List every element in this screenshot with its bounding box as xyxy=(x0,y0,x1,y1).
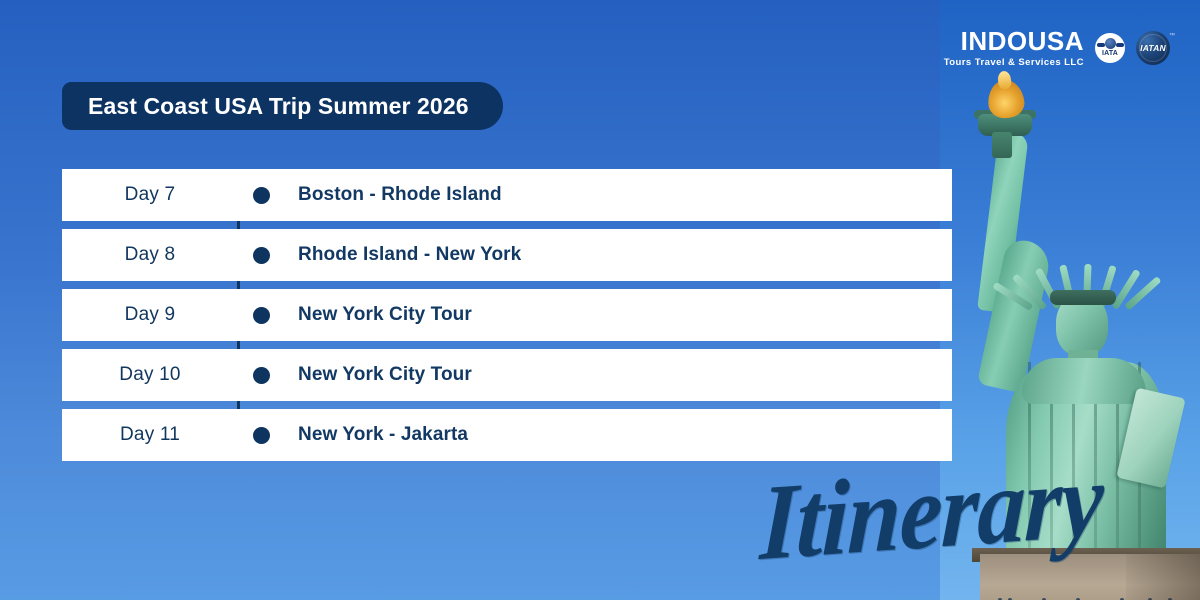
brand-logo-text: INDOUSA Tours Travel & Services LLC xyxy=(944,28,1084,68)
timeline-dot-cell xyxy=(238,187,284,204)
itinerary-script-word: Itinerary xyxy=(758,436,1105,585)
table-row[interactable]: Day 8 Rhode Island - New York xyxy=(62,229,952,281)
iata-badge-icon: IATA xyxy=(1095,33,1125,63)
destination-label: New York - Jakarta xyxy=(284,424,952,446)
brand-tagline: Tours Travel & Services LLC xyxy=(944,58,1084,68)
timeline-dot-icon xyxy=(253,367,270,384)
trademark-symbol: ™ xyxy=(1169,33,1175,39)
statue-headband xyxy=(1050,290,1116,305)
timeline-dot-cell xyxy=(238,427,284,444)
day-label: Day 11 xyxy=(62,424,238,446)
timeline-dot-icon xyxy=(253,247,270,264)
day-label: Day 7 xyxy=(62,184,238,206)
timeline-dot-icon xyxy=(253,427,270,444)
timeline-dot-icon xyxy=(253,187,270,204)
brand-name: INDOUSA xyxy=(944,28,1084,54)
timeline-dot-icon xyxy=(253,307,270,324)
iatan-badge-icon: IATAN ™ xyxy=(1136,31,1170,65)
destination-label: New York City Tour xyxy=(284,364,952,386)
iatan-badge-label: IATAN xyxy=(1140,43,1166,53)
pedestal-shadow xyxy=(1126,554,1200,600)
destination-label: Boston - Rhode Island xyxy=(284,184,952,206)
day-label: Day 10 xyxy=(62,364,238,386)
table-row[interactable]: Day 11 New York - Jakarta xyxy=(62,409,952,461)
day-label: Day 8 xyxy=(62,244,238,266)
destination-label: New York City Tour xyxy=(284,304,952,326)
table-row[interactable]: Day 9 New York City Tour xyxy=(62,289,952,341)
timeline-dot-cell xyxy=(238,367,284,384)
page-title: East Coast USA Trip Summer 2026 xyxy=(88,93,469,120)
brand-logo: INDOUSA Tours Travel & Services LLC IATA… xyxy=(944,28,1170,68)
table-row[interactable]: Day 10 New York City Tour xyxy=(62,349,952,401)
page-title-banner: East Coast USA Trip Summer 2026 xyxy=(62,82,503,130)
iata-wing-right-icon xyxy=(1116,43,1124,47)
iata-globe-icon xyxy=(1105,38,1116,49)
iata-wing-left-icon xyxy=(1097,43,1105,47)
timeline-dot-cell xyxy=(238,307,284,324)
torch-stem xyxy=(992,132,1012,158)
statue-shoulders xyxy=(1022,358,1146,404)
itinerary-table: Day 7 Boston - Rhode Island Day 8 Rhode … xyxy=(62,169,952,461)
iata-badge-label: IATA xyxy=(1102,50,1118,57)
timeline-dot-cell xyxy=(238,247,284,264)
destination-label: Rhode Island - New York xyxy=(284,244,952,266)
day-label: Day 9 xyxy=(62,304,238,326)
table-row[interactable]: Day 7 Boston - Rhode Island xyxy=(62,169,952,221)
